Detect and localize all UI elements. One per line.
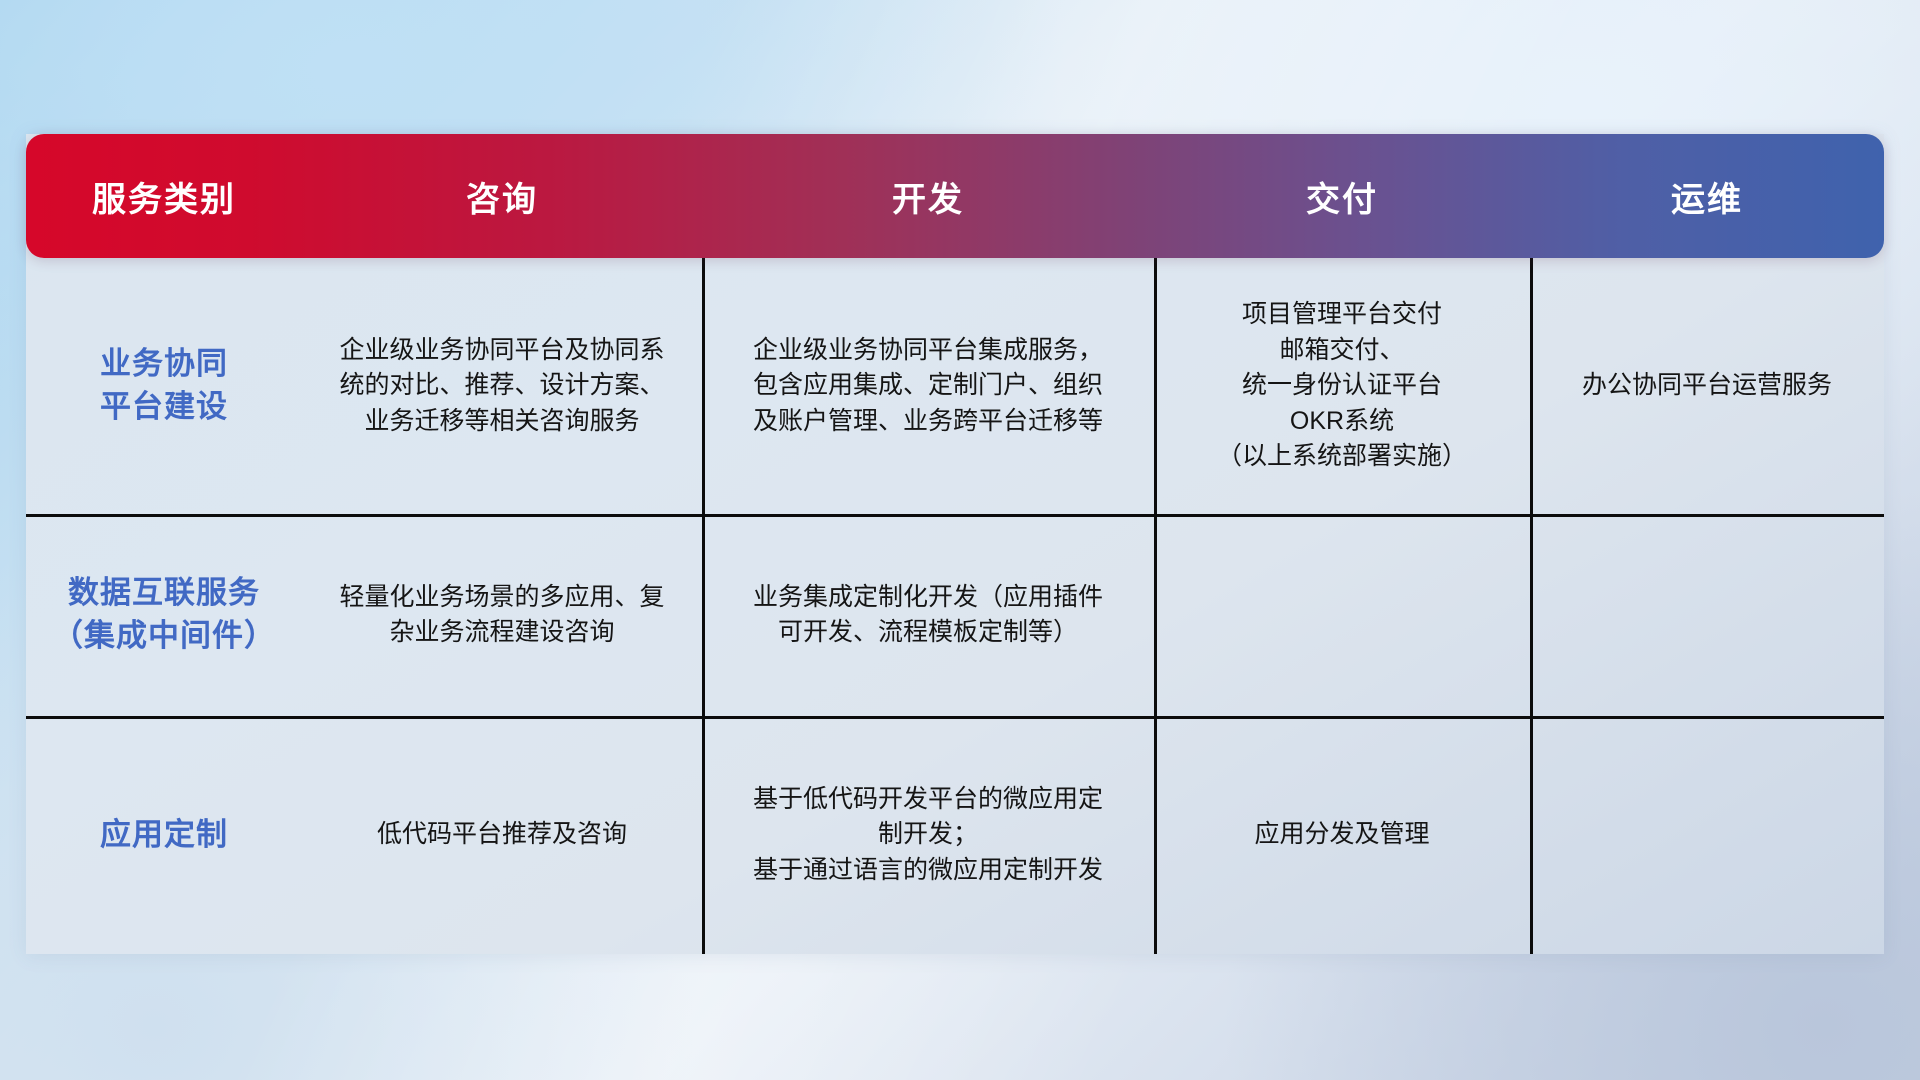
column-divider-1 [702,258,705,954]
cell-consulting-row3: 低代码平台推荐及咨询 [302,716,702,954]
cell-delivery-row2 [1154,514,1530,716]
row-label-business-collaboration: 业务协同 平台建设 [26,258,302,514]
column-header-service-category: 服务类别 [26,172,302,221]
row-label-data-interconnect: 数据互联服务 （集成中间件） [26,514,302,716]
cell-development-row3: 基于低代码开发平台的微应用定 制开发； 基于通过语言的微应用定制开发 [702,716,1154,954]
column-header-operations: 运维 [1530,172,1884,221]
table-row: 数据互联服务 （集成中间件） 轻量化业务场景的多应用、复 杂业务流程建设咨询 业… [26,514,1884,716]
cell-delivery-row1: 项目管理平台交付 邮箱交付、 统一身份认证平台 OKR系统 （以上系统部署实施） [1154,258,1530,514]
column-divider-3 [1530,258,1533,954]
cell-development-row2: 业务集成定制化开发（应用插件 可开发、流程模板定制等） [702,514,1154,716]
row-divider-1 [26,514,1884,517]
column-header-consulting: 咨询 [302,172,702,221]
cell-operations-row1: 办公协同平台运营服务 [1530,258,1884,514]
table-row: 应用定制 低代码平台推荐及咨询 基于低代码开发平台的微应用定 制开发； 基于通过… [26,716,1884,954]
table-header-row: 服务类别 咨询 开发 交付 运维 [26,134,1884,258]
cell-development-row1: 企业级业务协同平台集成服务， 包含应用集成、定制门户、组织 及账户管理、业务跨平… [702,258,1154,514]
cell-operations-row2 [1530,514,1884,716]
column-header-development: 开发 [702,172,1154,221]
cell-operations-row3 [1530,716,1884,954]
table-row: 业务协同 平台建设 企业级业务协同平台及协同系 统的对比、推荐、设计方案、 业务… [26,258,1884,514]
table-body: 业务协同 平台建设 企业级业务协同平台及协同系 统的对比、推荐、设计方案、 业务… [26,258,1884,954]
column-header-delivery: 交付 [1154,172,1530,221]
slide-canvas: 服务类别 咨询 开发 交付 运维 业务协同 平台建设 企业级业务协同平台及协同系… [0,0,1920,1080]
cell-consulting-row1: 企业级业务协同平台及协同系 统的对比、推荐、设计方案、 业务迁移等相关咨询服务 [302,258,702,514]
row-label-app-customization: 应用定制 [26,716,302,954]
cell-consulting-row2: 轻量化业务场景的多应用、复 杂业务流程建设咨询 [302,514,702,716]
cell-delivery-row3: 应用分发及管理 [1154,716,1530,954]
row-divider-2 [26,716,1884,719]
column-divider-2 [1154,258,1157,954]
